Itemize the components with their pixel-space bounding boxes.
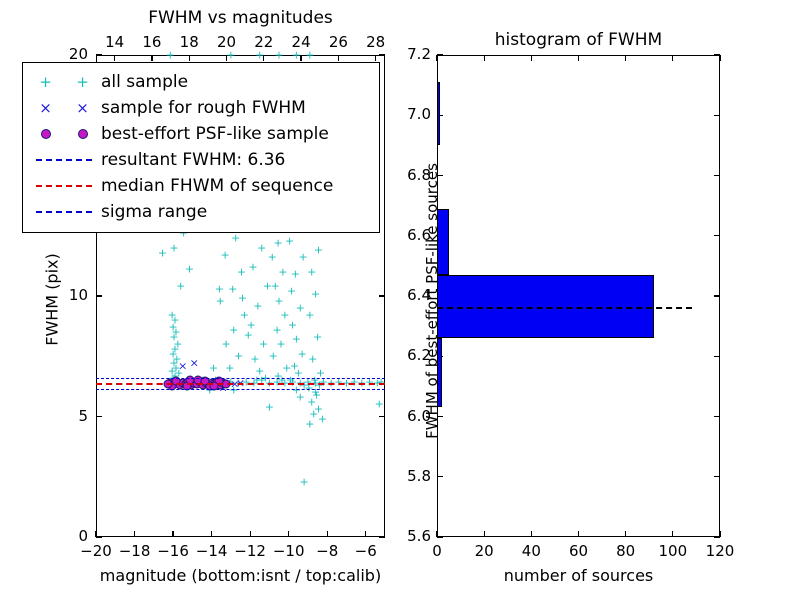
legend-marker xyxy=(27,173,101,199)
histogram-x-tick xyxy=(531,531,532,537)
scatter-x-tick-label: −10 xyxy=(267,542,311,560)
legend-item-label: best-effort PSF-like sample xyxy=(101,124,329,144)
sigma-range-line xyxy=(96,389,385,390)
legend-item[interactable]: sigma range xyxy=(27,199,375,225)
histogram-y-tick-label: 6.6 xyxy=(393,226,431,244)
histogram-y-tick xyxy=(437,536,443,537)
histogram-y-tick-label: 5.6 xyxy=(393,527,431,545)
histogram-median-line xyxy=(437,307,692,309)
scatter-right-tick xyxy=(379,536,385,537)
scatter-x-tick xyxy=(365,531,366,537)
histogram-x-tick-label: 40 xyxy=(509,542,553,560)
legend-marker xyxy=(27,121,101,147)
scatter-plot-title: FWHM vs magnitudes xyxy=(96,8,385,28)
histogram-title: histogram of FWHM xyxy=(437,30,720,50)
histogram-right-tick xyxy=(714,115,720,116)
histogram-right-tick xyxy=(714,416,720,417)
scatter-x-tick-label: −12 xyxy=(228,542,272,560)
cross-icon: × xyxy=(76,101,89,116)
histogram-right-tick xyxy=(714,235,720,236)
histogram-right-tick xyxy=(714,476,720,477)
scatter-x-tick-label: −14 xyxy=(190,542,234,560)
cross-icon: × xyxy=(39,101,52,116)
histogram-y-tick xyxy=(437,175,443,176)
scatter-top-tick-label: 28 xyxy=(354,33,398,51)
legend-item[interactable]: best-effort PSF-like sample xyxy=(27,121,375,147)
histogram-x-tick xyxy=(484,531,485,537)
scatter-y-tick-label: 10 xyxy=(54,286,88,304)
histogram-bar xyxy=(437,209,449,275)
histogram-x-tick-label: 80 xyxy=(604,542,648,560)
histogram-right-tick xyxy=(714,536,720,537)
scatter-top-tick xyxy=(189,55,190,61)
legend-marker: ++ xyxy=(27,69,101,95)
scatter-top-tick xyxy=(263,55,264,61)
histogram-y-tick-label: 7.0 xyxy=(393,105,431,123)
legend-item[interactable]: ++all sample xyxy=(27,69,375,95)
legend-item-label: sample for rough FWHM xyxy=(101,98,306,118)
histogram-bar xyxy=(437,338,442,407)
plus-icon: + xyxy=(76,75,89,90)
scatter-right-tick xyxy=(379,416,385,417)
histogram-x-axis-label: number of sources xyxy=(437,566,720,585)
figure-canvas: FWHM vs magnitudes magnitude (bottom:isn… xyxy=(0,0,800,600)
scatter-x-tick-label: −18 xyxy=(113,542,157,560)
dash-dot-line-icon xyxy=(36,211,92,213)
legend-marker xyxy=(27,199,101,225)
histogram-y-tick-label: 6.4 xyxy=(393,286,431,304)
scatter-x-tick xyxy=(172,531,173,537)
histogram-y-tick xyxy=(437,416,443,417)
histogram-y-tick-label: 5.8 xyxy=(393,467,431,485)
legend-item[interactable]: median FHWM of sequence xyxy=(27,173,375,199)
histogram-right-tick xyxy=(714,356,720,357)
sigma-range-line xyxy=(96,378,385,379)
scatter-top-tick xyxy=(375,55,376,61)
scatter-top-tick xyxy=(300,55,301,61)
filled-circle-icon xyxy=(78,129,88,139)
scatter-y-tick-label: 5 xyxy=(54,407,88,425)
histogram-bar xyxy=(437,82,440,145)
scatter-y-tick xyxy=(96,295,102,296)
filled-circle-icon xyxy=(41,129,51,139)
histogram-top-tick xyxy=(531,55,532,61)
histogram-x-tick-label: 20 xyxy=(462,542,506,560)
histogram-x-tick-label: 120 xyxy=(698,542,742,560)
histogram-y-tick-label: 6.0 xyxy=(393,407,431,425)
histogram-x-tick xyxy=(672,531,673,537)
histogram-y-tick-label: 6.8 xyxy=(393,166,431,184)
histogram-right-tick xyxy=(714,175,720,176)
scatter-y-tick xyxy=(96,54,102,55)
scatter-x-tick-label: −8 xyxy=(305,542,349,560)
legend-item-label: resultant FWHM: 6.36 xyxy=(101,150,285,170)
histogram-top-tick xyxy=(672,55,673,61)
scatter-x-tick-label: −6 xyxy=(344,542,388,560)
scatter-right-tick xyxy=(379,54,385,55)
scatter-right-tick xyxy=(379,295,385,296)
histogram-y-tick-label: 7.2 xyxy=(393,45,431,63)
histogram-y-tick-label: 6.2 xyxy=(393,346,431,364)
legend-marker: ×× xyxy=(27,95,101,121)
legend-marker xyxy=(27,147,101,173)
histogram-y-tick xyxy=(437,476,443,477)
legend-item-label: sigma range xyxy=(101,202,207,222)
scatter-y-tick-label: 20 xyxy=(54,45,88,63)
scatter-x-tick xyxy=(211,531,212,537)
legend-item[interactable]: resultant FWHM: 6.36 xyxy=(27,147,375,173)
scatter-x-tick xyxy=(250,531,251,537)
histogram-x-tick xyxy=(625,531,626,537)
plus-icon: + xyxy=(39,75,52,90)
histogram-top-tick xyxy=(484,55,485,61)
histogram-top-tick xyxy=(578,55,579,61)
histogram-x-tick xyxy=(578,531,579,537)
scatter-top-tick xyxy=(338,55,339,61)
scatter-x-tick xyxy=(327,531,328,537)
histogram-top-tick xyxy=(436,55,437,61)
scatter-x-tick xyxy=(288,531,289,537)
scatter-y-tick xyxy=(96,416,102,417)
histogram-x-tick-label: 60 xyxy=(557,542,601,560)
histogram-top-tick xyxy=(719,55,720,61)
legend-item-label: all sample xyxy=(101,72,188,92)
dashed-line-icon xyxy=(36,159,92,161)
scatter-x-tick-label: −16 xyxy=(151,542,195,560)
legend: ++all sample××sample for rough FWHMbest-… xyxy=(22,62,380,233)
scatter-top-tick xyxy=(151,55,152,61)
legend-item[interactable]: ××sample for rough FWHM xyxy=(27,95,375,121)
scatter-x-tick xyxy=(134,531,135,537)
scatter-x-axis-label: magnitude (bottom:isnt / top:calib) xyxy=(96,566,385,585)
scatter-y-tick xyxy=(96,536,102,537)
scatter-y-tick-label: 0 xyxy=(54,527,88,545)
histogram-right-tick xyxy=(714,295,720,296)
scatter-top-tick xyxy=(226,55,227,61)
histogram-right-tick xyxy=(714,54,720,55)
scatter-top-tick xyxy=(114,55,115,61)
legend-item-label: median FHWM of sequence xyxy=(101,176,333,196)
histogram-x-tick-label: 100 xyxy=(651,542,695,560)
histogram-y-tick xyxy=(437,54,443,55)
median-fhwm-line xyxy=(96,383,385,385)
dashed-line-icon xyxy=(36,185,92,187)
histogram-top-tick xyxy=(625,55,626,61)
